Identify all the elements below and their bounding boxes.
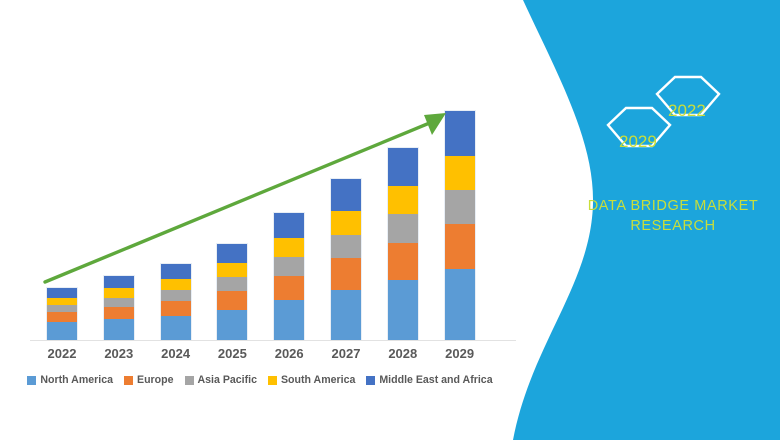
growth-trend-arrow: [45, 113, 446, 282]
legend-swatch-icon: [27, 376, 36, 385]
x-axis-labels: 20222023202420252026202720282029: [0, 346, 520, 368]
x-tick-2022: 2022: [34, 346, 90, 361]
x-tick-2023: 2023: [91, 346, 147, 361]
brand-name-line-2: RESEARCH: [578, 216, 768, 236]
hexagon-2022-label: 2022: [668, 101, 706, 121]
legend-label: North America: [40, 374, 113, 386]
chart-region: 20222023202420252026202720282029 North A…: [0, 0, 520, 440]
legend-item-middle-east-and-africa[interactable]: Middle East and Africa: [366, 374, 492, 386]
legend-item-asia-pacific[interactable]: Asia Pacific: [185, 374, 257, 386]
x-tick-2024: 2024: [148, 346, 204, 361]
legend-label: Asia Pacific: [198, 374, 257, 386]
legend-label: Middle East and Africa: [379, 374, 492, 386]
brand-name: DATA BRIDGE MARKET RESEARCH: [578, 196, 768, 236]
x-tick-2029: 2029: [432, 346, 488, 361]
trend-arrow-layer: [0, 0, 520, 340]
legend-item-north-america[interactable]: North America: [27, 374, 113, 386]
hexagon-2029-label: 2029: [619, 132, 657, 152]
legend-item-south-america[interactable]: South America: [268, 374, 355, 386]
legend-swatch-icon: [124, 376, 133, 385]
brand-name-line-1: DATA BRIDGE MARKET: [578, 196, 768, 216]
legend-item-europe[interactable]: Europe: [124, 374, 174, 386]
x-tick-2025: 2025: [204, 346, 260, 361]
chart-legend: North AmericaEuropeAsia PacificSouth Ame…: [0, 374, 520, 386]
chart-canvas: 2029 2022 DATA BRIDGE MARKET RESEARCH 20…: [0, 0, 780, 440]
legend-label: Europe: [137, 374, 174, 386]
legend-swatch-icon: [185, 376, 194, 385]
legend-label: South America: [281, 374, 355, 386]
x-tick-2027: 2027: [318, 346, 374, 361]
x-tick-2026: 2026: [261, 346, 317, 361]
x-axis-line: [30, 340, 516, 341]
legend-swatch-icon: [366, 376, 375, 385]
legend-swatch-icon: [268, 376, 277, 385]
x-tick-2028: 2028: [375, 346, 431, 361]
